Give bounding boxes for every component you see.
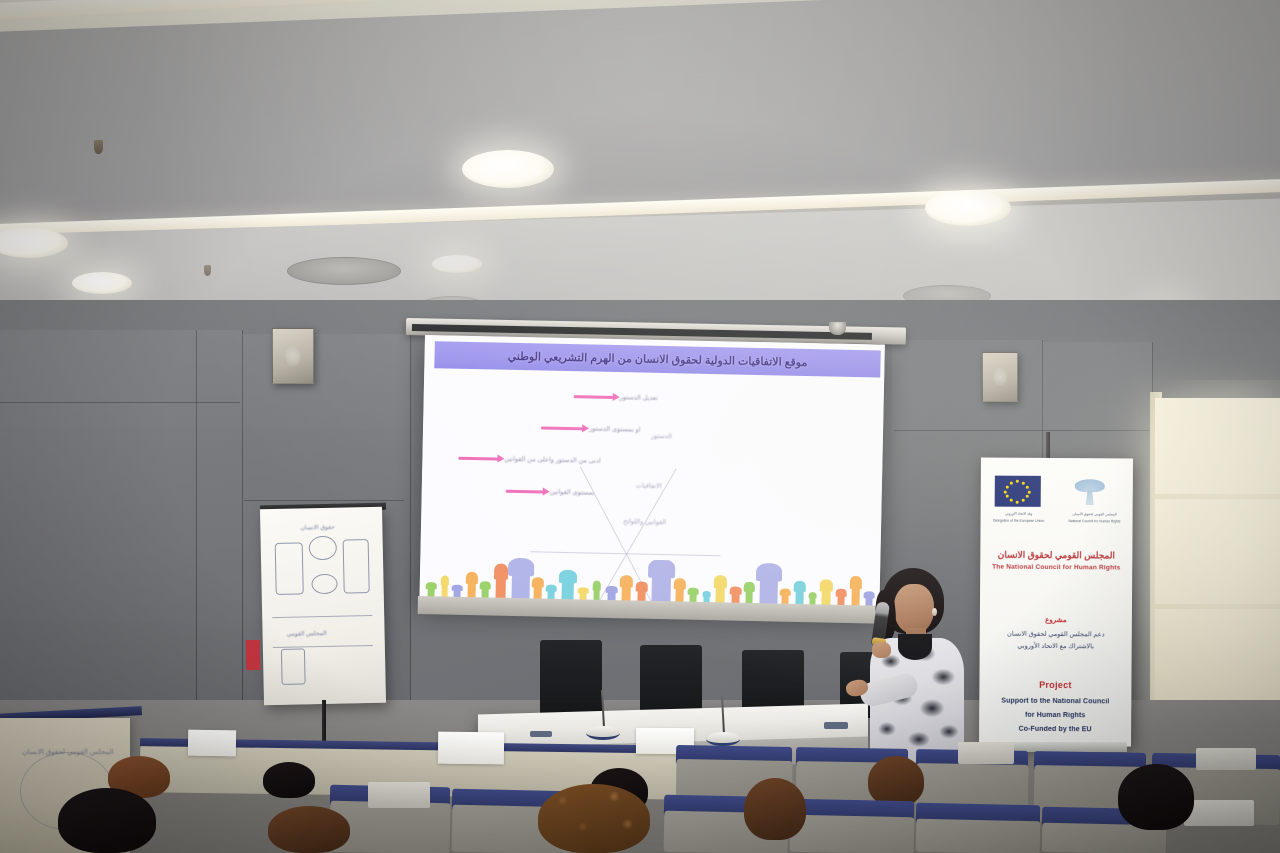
podium-emblem-text: المجلس القومي لحقوق الانسان bbox=[14, 748, 122, 756]
slide-row-label: بمستوى القوانين bbox=[550, 488, 595, 497]
presenter bbox=[862, 568, 967, 768]
presenter-collar bbox=[898, 634, 932, 660]
slide-row-label: تعديل الدستور bbox=[620, 393, 658, 402]
audience-head bbox=[263, 762, 315, 798]
flip-chart-paper: حقوق الانسان المجلس القومي bbox=[260, 507, 386, 706]
pyramid-label: الاتفاقيات bbox=[636, 481, 662, 490]
sketch-note: المجلس القومي bbox=[287, 630, 327, 638]
nchr-logo bbox=[1073, 474, 1107, 508]
flip-chart-marker-tab bbox=[246, 640, 261, 670]
arrow-icon bbox=[506, 489, 544, 493]
pyramid-label: القوانين واللوائح bbox=[623, 517, 666, 526]
wall-panel bbox=[196, 330, 243, 731]
pyramid-label: الدستور bbox=[651, 432, 672, 440]
arrow-icon bbox=[574, 395, 614, 399]
earring bbox=[932, 608, 937, 616]
photo-scene: موقع الاتفاقيات الدولية لحقوق الانسان من… bbox=[0, 0, 1280, 853]
roll-up-banner: وفد الاتحاد الأوروبي Delegation of the E… bbox=[979, 457, 1133, 746]
banner-arabic-line-1: دعم المجلس القومي لحقوق الانسان bbox=[980, 629, 1132, 638]
presenter-mic-hand bbox=[872, 642, 891, 658]
desk-item bbox=[530, 731, 552, 737]
banner-arabic-line-2: بالاشتراك مع الاتحاد الأوروبي bbox=[980, 641, 1132, 650]
microphone-base bbox=[706, 732, 740, 746]
seat-tablet-desk bbox=[1196, 748, 1256, 770]
projector-screen: موقع الاتفاقيات الدولية لحقوق الانسان من… bbox=[419, 335, 885, 613]
dome-sensor-icon bbox=[829, 322, 846, 335]
ceiling-air-vent bbox=[287, 257, 401, 285]
sketch-shape bbox=[281, 648, 306, 684]
banner-arabic-title: المجلس القومي لحقوق الانسان bbox=[980, 549, 1132, 561]
sketch-shape bbox=[311, 574, 337, 595]
wall-mounted-speaker bbox=[982, 352, 1018, 402]
slide-row-label: او بمستوى الدستور bbox=[589, 424, 641, 433]
pyramid-diagram bbox=[530, 377, 724, 556]
nchr-logo-stem bbox=[1086, 490, 1094, 505]
microphone-base bbox=[586, 726, 620, 740]
eu-logo-caption-en: Delegation of the European Union bbox=[983, 518, 1055, 524]
panel-chair bbox=[640, 645, 702, 717]
audience-head bbox=[268, 806, 350, 853]
banner-arabic-project-label: مشروع bbox=[980, 615, 1132, 624]
panel-chair bbox=[540, 640, 602, 714]
sketch-line bbox=[273, 645, 373, 648]
slide-title: موقع الاتفاقيات الدولية لحقوق الانسان من… bbox=[508, 350, 808, 369]
sketch-shape bbox=[343, 539, 370, 594]
slide-title-bar: موقع الاتفاقيات الدولية لحقوق الانسان من… bbox=[434, 341, 880, 377]
auditorium-seat bbox=[790, 815, 915, 853]
seat-tablet-desk bbox=[368, 782, 430, 808]
name-card bbox=[188, 730, 236, 757]
seat-tablet-desk bbox=[1184, 800, 1254, 826]
european-union-flag bbox=[995, 476, 1041, 507]
exterior-window bbox=[1155, 398, 1280, 728]
wall-seam bbox=[0, 402, 240, 403]
name-card bbox=[438, 732, 504, 765]
banner-english-line-3: Co-Funded by the EU bbox=[979, 725, 1131, 733]
sketch-line bbox=[272, 615, 372, 618]
audience-head bbox=[1118, 764, 1194, 830]
presentation-slide: موقع الاتفاقيات الدولية لحقوق الانسان من… bbox=[419, 335, 885, 613]
slide-row: بمستوى القوانين bbox=[506, 487, 595, 497]
banner-english-title: The National Council for Human Rights bbox=[980, 563, 1132, 571]
desk-item bbox=[824, 722, 848, 729]
fire-sprinkler-head bbox=[94, 140, 103, 154]
window-frame bbox=[1155, 494, 1280, 499]
window-frame bbox=[1155, 604, 1280, 609]
arrow-icon bbox=[541, 426, 583, 430]
banner-english-project-label: Project bbox=[979, 679, 1131, 690]
banner-english-line-1: Support to the National Council bbox=[979, 697, 1131, 705]
sketch-note: حقوق الانسان bbox=[300, 524, 335, 532]
auditorium-seat bbox=[916, 819, 1041, 853]
recessed-downlight bbox=[462, 150, 554, 188]
recessed-downlight bbox=[432, 255, 482, 273]
sketch-shape bbox=[275, 542, 304, 595]
nchr-logo-caption-en: National Council for Human Rights bbox=[1059, 519, 1131, 525]
slide-row: ادنى من الدستور واعلى من القوانين bbox=[458, 454, 600, 465]
slide-row-label: ادنى من الدستور واعلى من القوانين bbox=[504, 455, 600, 465]
audience-head bbox=[868, 756, 924, 806]
audience-head bbox=[538, 784, 650, 853]
nchr-logo-caption-ar: المجلس القومي لحقوق الانسان bbox=[1059, 512, 1131, 518]
banner-english-line-2: for Human Rights bbox=[979, 711, 1131, 719]
seat-tablet-desk bbox=[958, 742, 1014, 764]
audience-head bbox=[58, 788, 156, 853]
wall-panel bbox=[0, 330, 197, 721]
audience-head bbox=[744, 778, 806, 840]
wall-seam bbox=[894, 430, 1150, 431]
arrow-icon bbox=[458, 456, 498, 460]
eu-logo-caption-ar: وفد الاتحاد الأوروبي bbox=[983, 511, 1055, 517]
wall-seam bbox=[244, 500, 404, 501]
presenter-face bbox=[894, 584, 934, 634]
fire-sprinkler-head bbox=[204, 265, 211, 276]
sketch-shape bbox=[309, 536, 337, 561]
recessed-downlight bbox=[925, 190, 1011, 226]
recessed-downlight bbox=[72, 272, 132, 294]
wall-mounted-speaker bbox=[272, 328, 314, 384]
